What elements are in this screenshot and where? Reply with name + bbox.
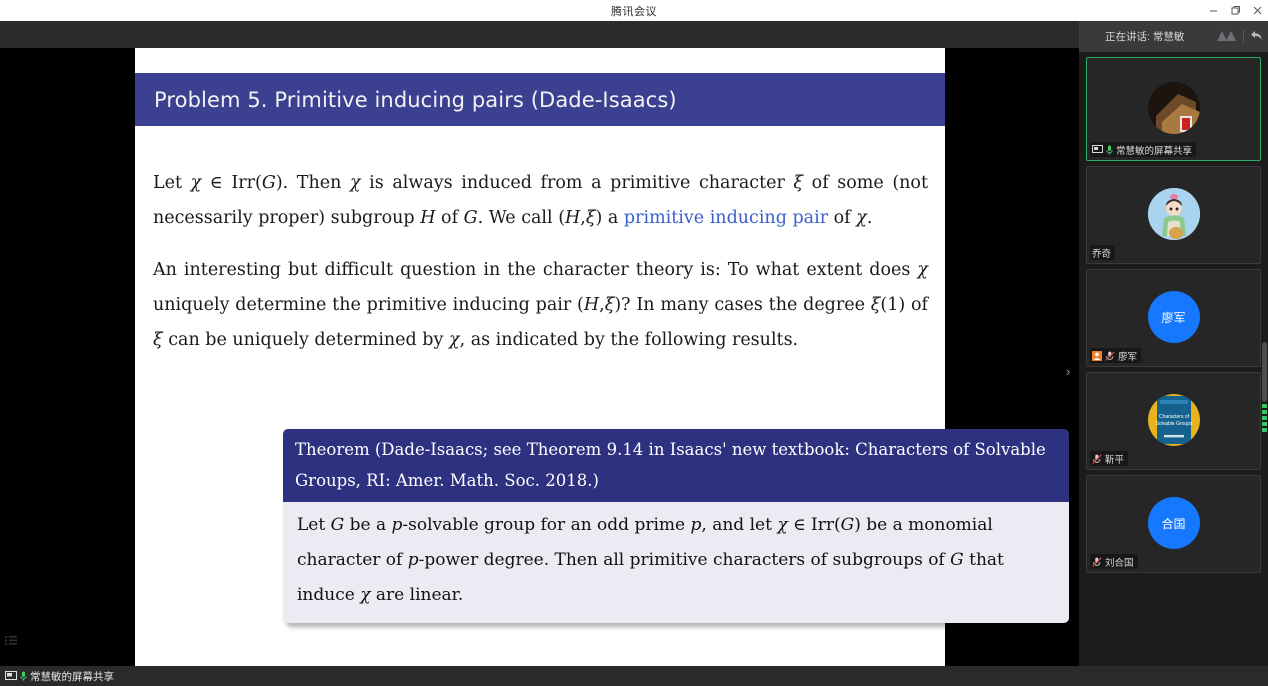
symbol-p: p: [691, 515, 702, 535]
symbol-xi: ξ: [793, 173, 803, 193]
slide-body: Let χ ∈ Irr(G). Then χ is always induced…: [135, 148, 945, 371]
presentation-slide: Problem 5. Primitive inducing pairs (Dad…: [135, 48, 945, 666]
symbol-p: p: [408, 550, 419, 570]
participant-name: 常慧敏的屏幕共享: [1116, 143, 1192, 157]
divider: [1243, 30, 1244, 43]
text-run: ). Then: [276, 173, 350, 193]
microphone-muted-icon: [1105, 351, 1115, 361]
svg-text:Solvable Groups: Solvable Groups: [1155, 421, 1192, 427]
symbol-chi: χ: [856, 208, 867, 228]
symbol-G: G: [950, 550, 964, 570]
text-run: uniquely determine the primitive inducin…: [153, 295, 584, 315]
symbol-xi: ξ: [871, 295, 881, 315]
primitive-inducing-pair-link[interactable]: primitive inducing pair: [624, 208, 828, 228]
back-arrow-icon[interactable]: [1250, 30, 1263, 44]
text-run: of: [828, 208, 856, 228]
text-run: . We call (: [478, 208, 565, 228]
symbol-G: G: [464, 208, 478, 228]
screen-share-icon: [1092, 145, 1103, 154]
text-run: are linear.: [371, 585, 464, 605]
slide-title: Problem 5. Primitive inducing pairs (Dad…: [135, 88, 677, 112]
avatar: 廖军: [1148, 291, 1200, 343]
window-title: 腾讯会议: [611, 3, 657, 19]
avatar: 合国: [1148, 497, 1200, 549]
symbol-chi: χ: [449, 330, 460, 350]
participant-tile[interactable]: 合国 刘合国: [1086, 475, 1261, 573]
text-run: )? In many cases the degree: [614, 295, 870, 315]
participant-name: 靳平: [1105, 452, 1124, 466]
participant-label: 乔奇: [1090, 245, 1115, 260]
text-run: Let: [153, 173, 191, 193]
avatar-initials: 廖军: [1161, 308, 1185, 325]
symbol-G: G: [262, 173, 276, 193]
participant-name: 刘合国: [1105, 555, 1134, 569]
taskbar-item-screen-share[interactable]: 常慧敏的屏幕共享: [0, 666, 119, 686]
avatar: Characters of Solvable Groups: [1148, 394, 1200, 446]
window-controls: [1202, 0, 1268, 21]
symbol-G: G: [841, 515, 855, 535]
mountains-icon[interactable]: [1217, 29, 1237, 44]
text-run: (1) of: [880, 295, 928, 315]
text-run: , as indicated by the following results.: [460, 330, 799, 350]
text-run: An interesting but difficult question in…: [153, 260, 917, 280]
panel-header: 正在讲话: 常慧敏: [1079, 21, 1268, 52]
shared-screen-stage: Problem 5. Primitive inducing pairs (Dad…: [0, 21, 1079, 666]
paragraph-1: Let χ ∈ Irr(G). Then χ is always induced…: [135, 166, 945, 236]
participant-tile[interactable]: 常慧敏的屏幕共享: [1086, 57, 1261, 161]
participant-name: 廖军: [1118, 349, 1137, 363]
text-run: ∈ Irr(: [201, 173, 262, 193]
window-titlebar: 腾讯会议: [0, 0, 1268, 21]
microphone-icon: [20, 671, 27, 681]
chevron-right-icon[interactable]: ›: [1066, 365, 1070, 378]
svg-text:Characters of: Characters of: [1158, 414, 1189, 420]
participant-name: 乔奇: [1092, 246, 1111, 260]
active-speaker-label: 正在讲话: 常慧敏: [1105, 29, 1184, 44]
text-run: -solvable group for an odd prime: [402, 515, 690, 535]
participant-label: 刘合国: [1090, 554, 1138, 569]
screen-share-icon: [5, 671, 17, 681]
symbol-chi: χ: [191, 173, 202, 193]
person-icon: [1092, 351, 1102, 361]
microphone-muted-icon: [1092, 557, 1102, 567]
symbol-chi: χ: [360, 585, 370, 605]
theorem-title: Theorem (Dade-Isaacs; see Theorem 9.14 i…: [283, 429, 1069, 502]
avatar: [1148, 82, 1200, 134]
symbol-chi: χ: [777, 515, 787, 535]
slide-header: Problem 5. Primitive inducing pairs (Dad…: [135, 73, 945, 126]
taskbar-item-label: 常慧敏的屏幕共享: [30, 669, 114, 684]
taskbar: 常慧敏的屏幕共享: [0, 666, 1268, 686]
microphone-muted-icon: [1092, 454, 1102, 464]
list-menu-icon[interactable]: [4, 633, 18, 647]
symbol-H: H: [420, 208, 435, 228]
panel-scrollbar[interactable]: [1262, 342, 1267, 402]
audio-level-indicator: [1262, 404, 1267, 438]
text-run: Let: [297, 515, 331, 535]
text-run: of: [435, 208, 463, 228]
text-run: .: [867, 208, 873, 228]
paragraph-2: An interesting but difficult question in…: [135, 253, 945, 358]
microphone-icon: [1106, 145, 1113, 155]
participant-label: 廖军: [1090, 348, 1141, 363]
symbol-H: H: [584, 295, 599, 315]
symbol-xi: ξ: [605, 295, 615, 315]
text-run: -power degree. Then all primitive charac…: [419, 550, 951, 570]
avatar-initials: 合国: [1161, 514, 1185, 531]
symbol-chi: χ: [917, 260, 928, 280]
stage-top-strip: [0, 21, 1079, 48]
panel-header-actions: [1217, 21, 1263, 52]
text-run: be a: [344, 515, 391, 535]
participants-panel: 正在讲话: 常慧敏: [1079, 21, 1268, 666]
close-icon[interactable]: [1246, 0, 1268, 21]
text-run: , and let: [701, 515, 777, 535]
symbol-chi: χ: [350, 173, 361, 193]
participant-label: 靳平: [1090, 451, 1128, 466]
symbol-p: p: [391, 515, 402, 535]
participant-tile[interactable]: 乔奇: [1086, 166, 1261, 264]
text-run: can be uniquely determined by: [163, 330, 449, 350]
theorem-body: Let G be a p-solvable group for an odd p…: [283, 502, 1069, 623]
symbol-G: G: [331, 515, 345, 535]
text-run: ) a: [596, 208, 624, 228]
participant-tile[interactable]: 廖军 廖军: [1086, 269, 1261, 367]
participant-tiles: 常慧敏的屏幕共享 乔奇: [1079, 52, 1268, 666]
theorem-block: Theorem (Dade-Isaacs; see Theorem 9.14 i…: [283, 429, 1069, 623]
symbol-H: H: [565, 208, 580, 228]
symbol-xi: ξ: [153, 330, 163, 350]
participant-tile[interactable]: Characters of Solvable Groups 靳平: [1086, 372, 1261, 470]
participant-label: 常慧敏的屏幕共享: [1090, 142, 1196, 157]
minimize-icon[interactable]: [1202, 0, 1224, 21]
text-run: is always induced from a primitive chara…: [361, 173, 794, 193]
maximize-icon[interactable]: [1224, 0, 1246, 21]
text-run: ∈ Irr(: [788, 515, 841, 535]
symbol-xi: ξ: [586, 208, 596, 228]
avatar: [1148, 188, 1200, 240]
